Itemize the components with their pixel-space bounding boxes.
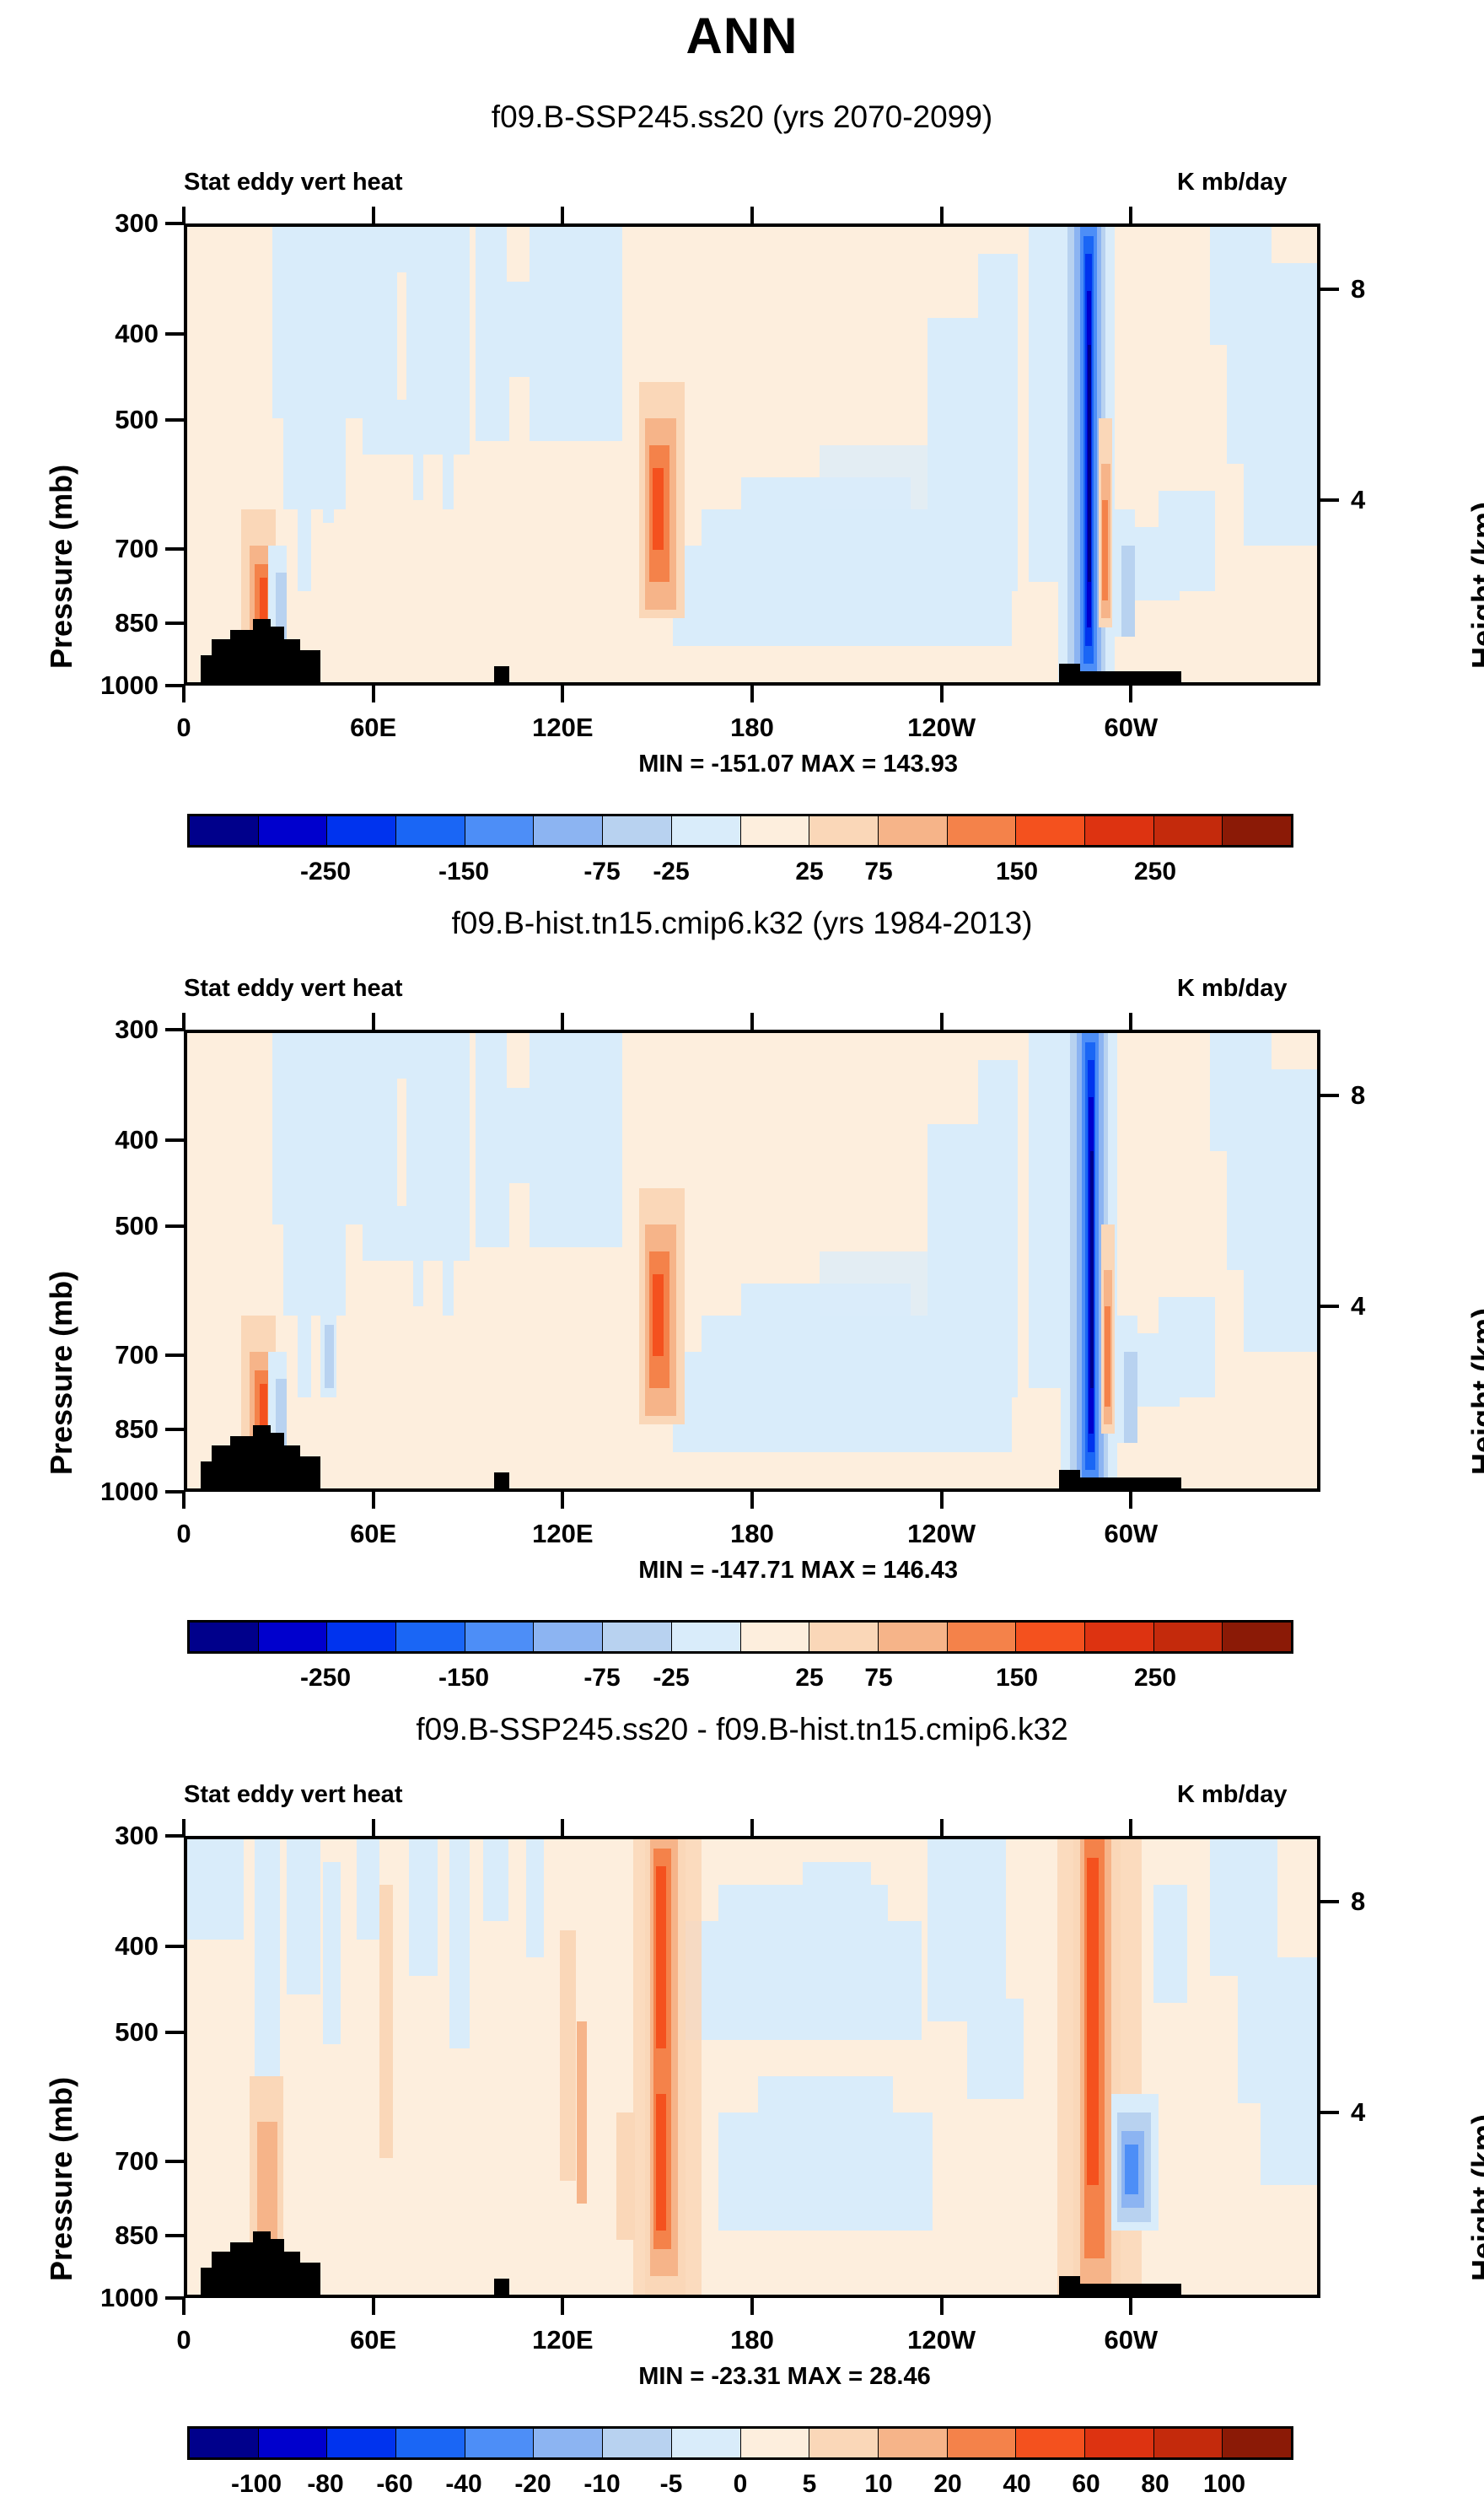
x-tick-bottom <box>1129 2298 1132 2315</box>
y-axis-title-right: Height (km) <box>1465 502 1484 669</box>
x-tick-bottom <box>940 686 944 702</box>
y-tick-left <box>165 1354 184 1357</box>
topography-mask <box>300 650 320 682</box>
colorbar-cell <box>1016 2429 1085 2457</box>
x-tick-top <box>750 1819 754 1836</box>
colorbar-cell <box>190 2429 259 2457</box>
x-tick-bottom <box>940 1492 944 1509</box>
contour-region <box>653 468 664 550</box>
contour-region <box>357 1839 379 1940</box>
y-tick-label-right: 4 <box>1351 485 1365 515</box>
contour-region <box>323 1862 341 2044</box>
contour-region <box>978 1060 1018 1397</box>
contour-region <box>443 1033 454 1316</box>
y-tick-left <box>165 332 184 336</box>
colorbar-cell <box>1154 2429 1223 2457</box>
colorbar-label: -80 <box>307 2470 343 2499</box>
contour-region <box>927 1839 1007 2021</box>
colorbar-label: -10 <box>583 2470 620 2499</box>
x-tick-bottom <box>182 1492 185 1509</box>
topography-mask <box>212 1445 229 1488</box>
contour-region <box>1210 1839 1277 1976</box>
minmax-annotation: MIN = -147.71 MAX = 146.43 <box>638 1557 958 1585</box>
colorbar-label: -60 <box>376 2470 412 2499</box>
contour-region <box>377 227 444 363</box>
y-axis-title-right: Height (km) <box>1465 2114 1484 2281</box>
x-tick-top <box>1129 207 1132 223</box>
x-tick-label: 180 <box>730 1519 774 1549</box>
topography-mask <box>201 2268 212 2295</box>
x-tick-top <box>940 1013 944 1030</box>
colorbar-label: 10 <box>864 2470 892 2499</box>
contour-region <box>323 1124 334 1329</box>
topography-mask <box>230 2242 253 2295</box>
colorbar-cell <box>672 2429 741 2457</box>
contour-region <box>509 377 530 441</box>
colorbar-cell <box>809 2429 879 2457</box>
topography-mask <box>494 1472 508 1488</box>
x-tick-label: 120E <box>532 713 593 743</box>
y-tick-left <box>165 1945 184 1948</box>
y-tick-label-left: 300 <box>32 208 159 239</box>
topography-mask <box>284 1445 300 1488</box>
colorbar-label: -20 <box>514 2470 551 2499</box>
y-tick-label-left: 400 <box>32 1125 159 1155</box>
x-tick-label: 120W <box>907 713 976 743</box>
contour-region <box>585 1033 596 1192</box>
y-tick-left <box>165 418 184 422</box>
contour-region <box>397 272 406 400</box>
y-tick-label-right: 4 <box>1351 2097 1365 2128</box>
topography-mask <box>1080 1477 1182 1489</box>
colorbar-label: 5 <box>803 2470 817 2499</box>
contour-region <box>656 2094 666 2231</box>
contour-region <box>483 1839 508 1921</box>
x-tick-top <box>1129 1013 1132 1030</box>
x-tick-bottom <box>182 686 185 702</box>
contour-region <box>577 2021 587 2204</box>
contour-region <box>298 1033 311 1397</box>
topography-mask <box>271 627 284 682</box>
y-tick-left <box>165 547 184 551</box>
y-axis-title-left: Pressure (mb) <box>44 465 79 669</box>
topography-mask <box>1080 671 1182 683</box>
y-axis-title-left: Pressure (mb) <box>44 1271 79 1475</box>
x-tick-bottom <box>940 2298 944 2315</box>
y-tick-label-left: 1000 <box>32 1477 159 1507</box>
contour-region <box>1102 500 1108 600</box>
minmax-annotation: MIN = -151.07 MAX = 143.93 <box>638 751 958 778</box>
y-tick-left <box>165 222 184 225</box>
contour-region <box>1121 546 1135 637</box>
topography-mask <box>284 639 300 682</box>
colorbar-cell <box>879 2429 948 2457</box>
field-label: Stat eddy vert heat <box>184 975 402 1003</box>
x-tick-bottom <box>182 2298 185 2315</box>
y-tick-label-left: 300 <box>32 1015 159 1045</box>
topography-mask <box>300 1456 320 1488</box>
colorbar-label: -5 <box>660 2470 683 2499</box>
y-tick-left <box>165 622 184 625</box>
contour-region <box>1029 1033 1062 1388</box>
y-tick-left <box>165 1138 184 1142</box>
figure-root: ANN f09.B-SSP245.ss20 (yrs 2070-2099)Sta… <box>0 0 1484 2508</box>
contour-plot[interactable] <box>184 1836 1320 2298</box>
contour-region <box>758 2076 894 2131</box>
contour-region <box>607 1033 621 1238</box>
contour-region <box>507 1033 530 1088</box>
x-tick-top <box>750 1013 754 1030</box>
colorbar-label: -40 <box>445 2470 481 2499</box>
panel-3: f09.B-SSP245.ss20 - f09.B-hist.tn15.cmip… <box>0 1612 1484 2419</box>
contour-region <box>413 1056 423 1306</box>
units-label: K mb/day <box>1177 1781 1288 1809</box>
topography-mask <box>212 639 229 682</box>
y-tick-left <box>165 2031 184 2034</box>
y-tick-right <box>1320 498 1339 502</box>
y-axis-title-right: Height (km) <box>1465 1308 1484 1475</box>
colorbar-cell <box>259 2429 328 2457</box>
topography-mask <box>212 2252 229 2295</box>
topography-mask <box>1059 2276 1079 2295</box>
y-tick-label-right: 8 <box>1351 1080 1365 1111</box>
contour-region <box>616 2112 634 2240</box>
x-tick-top <box>561 207 564 223</box>
contour-region <box>607 227 621 432</box>
x-tick-bottom <box>1129 1492 1132 1509</box>
contour-region <box>560 1033 573 1215</box>
colorbar-label: 0 <box>734 2470 748 2499</box>
y-tick-left <box>165 1428 184 1431</box>
colorbar-label: 40 <box>1003 2470 1030 2499</box>
topography-mask <box>300 2263 320 2295</box>
x-tick-bottom <box>372 1492 375 1509</box>
x-tick-label: 120E <box>532 1519 593 1549</box>
colorbar-cell <box>465 2429 535 2457</box>
contour-field <box>187 227 1317 682</box>
y-tick-left <box>165 2234 184 2237</box>
y-tick-right <box>1320 1305 1339 1308</box>
topography-mask <box>201 655 212 682</box>
x-tick-bottom <box>750 686 754 702</box>
contour-plot[interactable] <box>184 223 1320 686</box>
y-tick-right <box>1320 1900 1339 1903</box>
contour-region <box>377 1033 444 1170</box>
x-tick-label: 60E <box>350 713 396 743</box>
y-tick-right <box>1320 288 1339 291</box>
contour-field <box>187 1839 1317 2295</box>
field-label: Stat eddy vert heat <box>184 1781 402 1809</box>
panel-title: f09.B-SSP245.ss20 - f09.B-hist.tn15.cmip… <box>0 1712 1484 1747</box>
x-tick-top <box>182 207 185 223</box>
contour-region <box>1087 1858 1100 2186</box>
x-tick-top <box>940 207 944 223</box>
field-label: Stat eddy vert heat <box>184 169 402 196</box>
y-tick-label-right: 8 <box>1351 1886 1365 1917</box>
contour-region <box>283 227 346 509</box>
y-tick-left <box>165 2160 184 2163</box>
contour-region <box>379 1885 393 2158</box>
contour-region <box>283 1033 346 1316</box>
y-tick-right <box>1320 1094 1339 1097</box>
topography-mask <box>271 1433 284 1488</box>
x-tick-label: 120W <box>907 2325 976 2355</box>
x-tick-label: 0 <box>176 713 191 743</box>
topography-mask <box>230 1436 253 1488</box>
y-tick-label-left: 400 <box>32 1931 159 1962</box>
colorbar-cell <box>741 2429 810 2457</box>
y-tick-label-left: 300 <box>32 1821 159 1851</box>
colorbar <box>187 2426 1293 2460</box>
units-label: K mb/day <box>1177 975 1288 1003</box>
colorbar-cell <box>396 2429 465 2457</box>
x-tick-bottom <box>750 2298 754 2315</box>
topography-mask <box>1059 1470 1079 1488</box>
contour-region <box>653 1274 664 1356</box>
x-tick-bottom <box>561 686 564 702</box>
contour-region <box>526 1839 544 1957</box>
colorbar-cell <box>1223 2429 1291 2457</box>
contour-region <box>1088 345 1091 582</box>
topography-mask <box>253 619 271 682</box>
contour-region <box>397 1079 406 1206</box>
contour-region <box>1261 2067 1317 2185</box>
x-tick-label: 180 <box>730 713 774 743</box>
colorbar-label: 20 <box>933 2470 961 2499</box>
topography-mask <box>284 2252 300 2295</box>
contour-region <box>507 227 530 282</box>
x-tick-bottom <box>1129 686 1132 702</box>
x-tick-top <box>750 207 754 223</box>
topography-mask <box>201 1461 212 1488</box>
x-tick-top <box>372 207 375 223</box>
topography-mask <box>494 2279 508 2295</box>
contour-region <box>1134 527 1180 600</box>
units-label: K mb/day <box>1177 169 1288 196</box>
topography-mask <box>253 1425 271 1488</box>
topography-mask <box>230 630 253 682</box>
y-tick-label-left: 1000 <box>32 2283 159 2313</box>
contour-region <box>298 227 311 591</box>
y-tick-label-left: 400 <box>32 319 159 349</box>
colorbar-cell <box>603 2429 672 2457</box>
panel-title: f09.B-hist.tn15.cmip6.k32 (yrs 1984-2013… <box>0 906 1484 941</box>
x-tick-top <box>182 1013 185 1030</box>
x-tick-label: 60E <box>350 2325 396 2355</box>
contour-region <box>413 250 423 500</box>
contour-region <box>585 227 596 386</box>
colorbar-label: 100 <box>1203 2470 1245 2499</box>
contour-region <box>803 1862 870 1917</box>
contour-region <box>1134 1333 1180 1406</box>
y-tick-label-right: 4 <box>1351 1291 1365 1321</box>
x-tick-top <box>940 1819 944 1836</box>
contour-region <box>1125 2145 1138 2194</box>
contour-region <box>967 1999 1024 2099</box>
x-tick-top <box>561 1013 564 1030</box>
y-tick-left <box>165 2296 184 2300</box>
contour-region <box>1124 1352 1137 1443</box>
topography-mask <box>1059 664 1079 682</box>
y-tick-left <box>165 1490 184 1493</box>
topography-mask <box>271 2239 284 2295</box>
x-tick-label: 0 <box>176 1519 191 1549</box>
colorbar-cell <box>1085 2429 1154 2457</box>
topography-mask <box>494 666 508 682</box>
x-tick-top <box>372 1013 375 1030</box>
contour-region <box>325 1325 334 1389</box>
colorbar-cell <box>534 2429 603 2457</box>
y-tick-label-left: 500 <box>32 2017 159 2048</box>
x-tick-label: 120W <box>907 1519 976 1549</box>
contour-region <box>449 1839 470 2048</box>
contour-region <box>978 254 1018 591</box>
contour-region <box>187 1839 244 1940</box>
contour-region <box>560 227 573 409</box>
x-tick-label: 0 <box>176 2325 191 2355</box>
colorbar-label: -100 <box>231 2470 282 2499</box>
y-tick-label-left: 500 <box>32 405 159 435</box>
contour-region <box>656 1866 666 2048</box>
x-tick-label: 120E <box>532 2325 593 2355</box>
y-tick-label-right: 8 <box>1351 274 1365 304</box>
x-tick-label: 60E <box>350 1519 396 1549</box>
contour-region <box>1266 263 1317 536</box>
y-tick-left <box>165 684 184 687</box>
contour-region <box>323 318 334 523</box>
colorbar-label: 60 <box>1072 2470 1100 2499</box>
x-tick-label: 60W <box>1104 1519 1158 1549</box>
x-tick-top <box>182 1819 185 1836</box>
contour-region <box>1153 1885 1187 2003</box>
x-tick-label: 60W <box>1104 2325 1158 2355</box>
contour-region <box>1266 1069 1317 1343</box>
x-tick-bottom <box>372 686 375 702</box>
x-tick-bottom <box>750 1492 754 1509</box>
topography-mask <box>1080 2284 1182 2295</box>
y-tick-label-left: 500 <box>32 1211 159 1241</box>
panel-title: f09.B-SSP245.ss20 (yrs 2070-2099) <box>0 100 1484 135</box>
y-axis-title-left: Pressure (mb) <box>44 2077 79 2281</box>
contour-region <box>255 1839 279 2090</box>
x-tick-label: 60W <box>1104 713 1158 743</box>
colorbar-cell <box>327 2429 396 2457</box>
panel-2: f09.B-hist.tn15.cmip6.k32 (yrs 1984-2013… <box>0 806 1484 1612</box>
contour-region <box>1105 1306 1110 1407</box>
y-tick-label-left: 1000 <box>32 670 159 701</box>
minmax-annotation: MIN = -23.31 MAX = 28.46 <box>638 2363 931 2391</box>
x-tick-bottom <box>372 2298 375 2315</box>
x-tick-top <box>561 1819 564 1836</box>
contour-region <box>1090 1151 1094 1388</box>
contour-region <box>287 1839 320 1994</box>
contour-field <box>187 1033 1317 1488</box>
panel-1: f09.B-SSP245.ss20 (yrs 2070-2099)Stat ed… <box>0 0 1484 806</box>
colorbar-cell <box>948 2429 1017 2457</box>
colorbar-label: 80 <box>1141 2470 1169 2499</box>
x-tick-top <box>1129 1819 1132 1836</box>
y-tick-right <box>1320 2111 1339 2114</box>
y-tick-left <box>165 1224 184 1228</box>
topography-mask <box>253 2231 271 2295</box>
contour-region <box>443 227 454 509</box>
y-tick-left <box>165 1834 184 1838</box>
x-tick-bottom <box>561 2298 564 2315</box>
contour-plot[interactable] <box>184 1030 1320 1492</box>
x-tick-label: 180 <box>730 2325 774 2355</box>
x-tick-bottom <box>561 1492 564 1509</box>
contour-region <box>560 1930 576 2181</box>
x-tick-top <box>372 1819 375 1836</box>
y-tick-left <box>165 1028 184 1031</box>
contour-region <box>509 1183 530 1247</box>
contour-region <box>409 1839 438 1976</box>
